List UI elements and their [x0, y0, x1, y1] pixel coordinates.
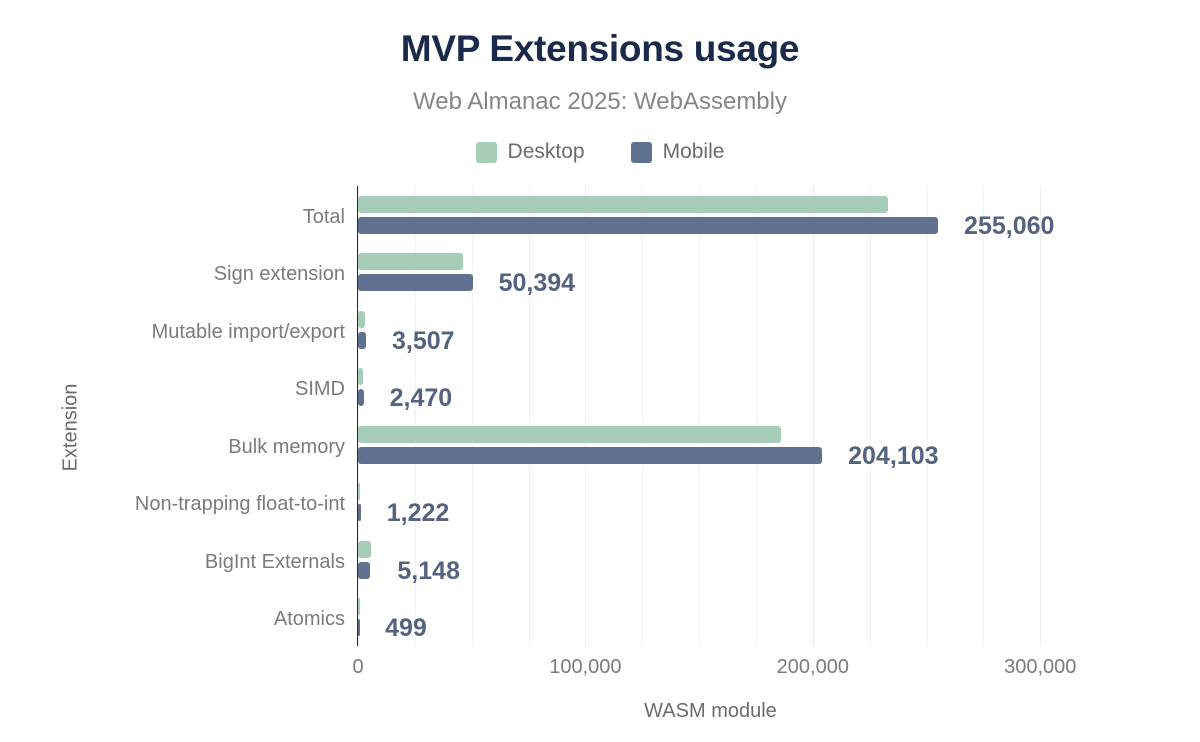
bar-value-label: 1,222	[387, 501, 450, 526]
x-axis-ticks: 0100,000200,000300,000	[358, 656, 1063, 686]
bar-value-label: 50,394	[499, 271, 575, 296]
bar-mobile[interactable]	[358, 332, 366, 349]
bar-desktop[interactable]	[358, 311, 365, 328]
bar-row: 255,060	[358, 186, 1063, 244]
bar-desktop[interactable]	[358, 483, 360, 500]
bar-row: 2,470	[358, 359, 1063, 417]
bar-row: 3,507	[358, 301, 1063, 359]
chart-container: MVP Extensions usage Web Almanac 2025: W…	[0, 0, 1200, 742]
bar-desktop[interactable]	[358, 598, 360, 615]
x-axis-tick-label: 100,000	[549, 656, 621, 679]
bar-value-label: 5,148	[397, 559, 460, 584]
bar-desktop[interactable]	[358, 541, 371, 558]
y-axis-category-labels: TotalSign extensionMutable import/export…	[0, 186, 345, 646]
bar-value-label: 3,507	[392, 329, 455, 354]
y-axis-title: Extension	[60, 338, 83, 518]
bar-value-label: 255,060	[964, 214, 1054, 239]
bar-row: 5,148	[358, 531, 1063, 589]
bar-desktop[interactable]	[358, 253, 463, 270]
bar-value-label: 204,103	[848, 444, 938, 469]
bar-row: 1,222	[358, 474, 1063, 532]
bar-mobile[interactable]	[358, 562, 370, 579]
plot-wrapper: TotalSign extensionMutable import/export…	[0, 0, 1200, 742]
bar-mobile[interactable]	[358, 504, 361, 521]
bar-mobile[interactable]	[358, 274, 473, 291]
bar-rows: 255,06050,3943,5072,470204,1031,2225,148…	[358, 186, 1063, 646]
bar-desktop[interactable]	[358, 196, 888, 213]
y-axis-category-label: Non-trapping float-to-int	[135, 494, 345, 514]
y-axis-category-label: Atomics	[274, 609, 345, 629]
bar-desktop[interactable]	[358, 426, 781, 443]
x-axis-tick-label: 300,000	[1004, 656, 1076, 679]
x-axis-tick-label: 0	[352, 656, 363, 679]
y-axis-category-label: SIMD	[295, 379, 345, 399]
bar-row: 50,394	[358, 244, 1063, 302]
x-axis-tick-label: 200,000	[777, 656, 849, 679]
bar-mobile[interactable]	[358, 619, 360, 636]
bar-mobile[interactable]	[358, 217, 938, 234]
y-axis-category-label: Mutable import/export	[152, 322, 345, 342]
plot-area: 255,06050,3943,5072,470204,1031,2225,148…	[358, 186, 1063, 646]
x-axis-title: WASM module	[358, 700, 1063, 723]
bar-mobile[interactable]	[358, 447, 822, 464]
bar-value-label: 499	[385, 616, 427, 641]
bar-row: 204,103	[358, 416, 1063, 474]
y-axis-category-label: Total	[303, 207, 345, 227]
bar-value-label: 2,470	[390, 386, 453, 411]
bar-mobile[interactable]	[358, 389, 364, 406]
bar-desktop[interactable]	[358, 368, 363, 385]
y-axis-category-label: Sign extension	[214, 264, 345, 284]
y-axis-category-label: Bulk memory	[228, 437, 345, 457]
y-axis-category-label: BigInt Externals	[205, 552, 345, 572]
bar-row: 499	[358, 589, 1063, 647]
